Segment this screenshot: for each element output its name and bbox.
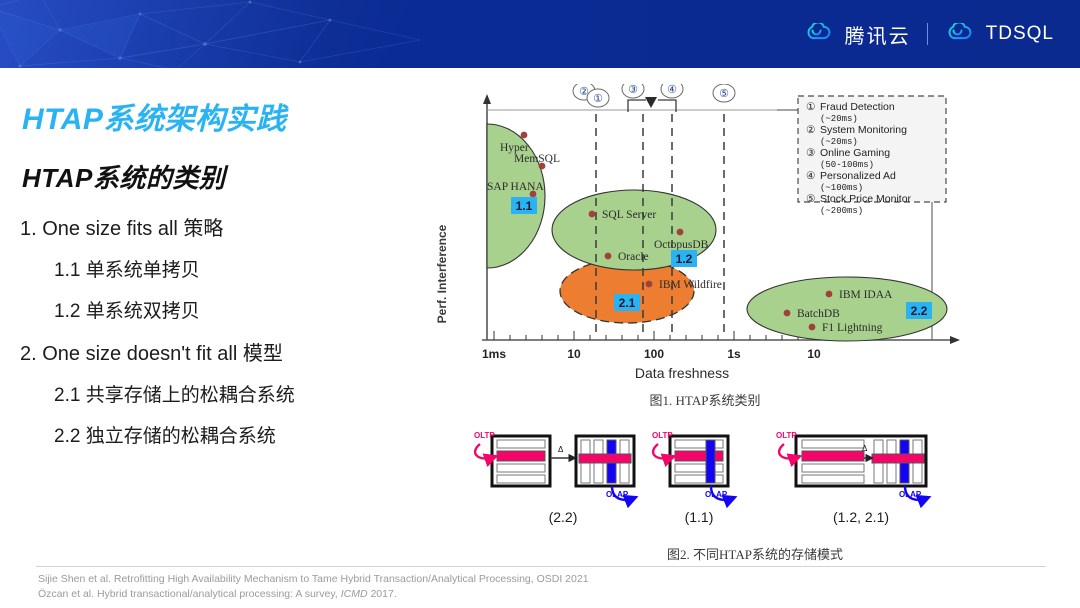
data-label-sap-hana: SAP HANA xyxy=(487,181,544,193)
oltp-label-3: OLTP xyxy=(776,431,797,440)
citation-2-venue: ICMD xyxy=(341,588,368,600)
olap-label-3: OLAP xyxy=(899,490,922,499)
x-tick-label-0: 1ms xyxy=(482,347,506,361)
scenario-arrow xyxy=(645,97,657,108)
legend-item-3-num: ③ xyxy=(806,147,816,159)
page-title: HTAP系统架构实践 xyxy=(22,94,286,138)
brand-name-cn: 腾讯云 xyxy=(845,20,911,49)
cloud-logo-icon xyxy=(803,23,833,45)
header-mesh-decoration xyxy=(0,0,460,68)
badge-2-2: 2.2 xyxy=(911,304,928,318)
legend-item-2-latency: (~20ms) xyxy=(820,137,858,147)
y-axis-label: Perf. Interference xyxy=(435,224,449,323)
figure-2-diagrams: Δ OLTP OLAP (2.2) OLTP OLAP xyxy=(466,424,966,534)
brand-name-en: TDSQL xyxy=(986,23,1054,45)
x-axis-ticks xyxy=(494,331,814,340)
list-item: 2.1 共享存储上的松耦合系统 xyxy=(20,380,450,407)
legend-item-1-latency: (~20ms) xyxy=(820,114,858,124)
x-tick-label-1: 10 xyxy=(567,347,581,361)
scenario-marker-5: ⑤ xyxy=(719,88,729,100)
scenario-marker-1: ① xyxy=(593,93,603,105)
list-item: 1. One size fits all 策略 xyxy=(20,212,450,241)
legend-item-4-latency: (~100ms) xyxy=(820,183,863,193)
citation-2-prefix: Özcan et al. Hybrid transactional/analyt… xyxy=(38,588,341,600)
data-label-f1-lightning: F1 Lightning xyxy=(822,322,883,334)
figure-1-caption: 图1. HTAP系统类别 xyxy=(470,390,940,409)
legend-item-3-latency: (50-100ms) xyxy=(820,160,874,170)
citation-2-suffix: 2017. xyxy=(368,588,397,600)
y-axis-arrow xyxy=(483,94,491,104)
list-item: 2. One size doesn't fit all 模型 xyxy=(20,337,450,366)
badge-1-1: 1.1 xyxy=(516,199,533,213)
slide-root: 腾讯云 TDSQL HTAP系统架构实践 HTAP系统的类别 1. One si… xyxy=(0,0,1080,608)
list-item: 2.2 独立存储的松耦合系统 xyxy=(20,421,450,448)
x-axis-label: Data freshness xyxy=(635,365,729,381)
legend-item-1-name: Fraud Detection xyxy=(820,101,895,113)
scenario-marker-4: ④ xyxy=(667,84,677,96)
legend-item-5-num: ⑤ xyxy=(806,193,816,205)
slide-header: 腾讯云 TDSQL xyxy=(0,0,1080,68)
chart-legend: ① Fraud Detection (~20ms) ② System Monit… xyxy=(777,96,946,216)
diagram-caption-3: (1.2, 2.1) xyxy=(833,509,889,525)
data-label-octopusdb: OctopusDB xyxy=(654,239,709,251)
cloud-logo-icon-tdsql xyxy=(944,23,974,45)
list-item: 1.2 单系统双拷贝 xyxy=(20,296,450,323)
page-subtitle: HTAP系统的类别 xyxy=(22,158,225,195)
legend-item-4-num: ④ xyxy=(806,170,816,182)
legend-item-5-name: Stock Price Monitor xyxy=(820,193,912,205)
brand-divider xyxy=(927,23,928,45)
data-label-sql-server: SQL Server xyxy=(602,209,656,221)
x-axis-arrow xyxy=(950,336,960,344)
olap-label-2: OLAP xyxy=(705,490,728,499)
data-label-ibm-idaa: IBM IDAA xyxy=(839,289,893,301)
list-item: 1.1 单系统单拷贝 xyxy=(20,255,450,282)
legend-item-4-name: Personalized Ad xyxy=(820,170,896,182)
diagram-caption-1: (2.2) xyxy=(549,509,578,525)
bullet-list: 1. One size fits all 策略 1.1 单系统单拷贝 1.2 单… xyxy=(20,212,450,462)
legend-item-5-latency: (~200ms) xyxy=(820,206,863,216)
delta-label-2: Δ xyxy=(862,444,868,453)
legend-item-1-num: ① xyxy=(806,101,816,113)
data-label-memsql: MemSQL xyxy=(514,153,560,165)
figure-2-caption: 图2. 不同HTAP系统的存储模式 xyxy=(520,544,990,563)
badge-1-2: 1.2 xyxy=(676,252,693,266)
oltp-label-2: OLTP xyxy=(652,431,673,440)
scenario-marker-3: ③ xyxy=(628,84,638,96)
legend-item-2-name: System Monitoring xyxy=(820,124,907,136)
footer-citations: Sijie Shen et al. Retrofitting High Avai… xyxy=(38,572,1048,602)
legend-item-2-num: ② xyxy=(806,124,816,136)
legend-item-3-name: Online Gaming xyxy=(820,147,890,159)
figure-1-chart: Perf. Interference xyxy=(432,84,962,384)
storage-diagram-2-2: Δ OLTP OLAP (2.2) xyxy=(474,431,634,525)
citation-line-1: Sijie Shen et al. Retrofitting High Avai… xyxy=(38,572,1048,587)
delta-label-1: Δ xyxy=(558,445,564,454)
scenario-markers: ② ① ③ ④ ⑤ xyxy=(573,84,735,107)
badge-2-1: 2.1 xyxy=(619,296,636,310)
x-tick-label-2: 100 xyxy=(644,347,664,361)
footer-divider xyxy=(36,566,1046,567)
brand-lockup: 腾讯云 TDSQL xyxy=(803,0,1054,68)
citation-line-2: Özcan et al. Hybrid transactional/analyt… xyxy=(38,587,1048,602)
data-label-ibm-wildfire: IBM Wildfire xyxy=(659,279,722,291)
x-tick-label-4: 10 xyxy=(807,347,821,361)
data-label-batchdb: BatchDB xyxy=(797,308,840,320)
diagram-caption-2: (1.1) xyxy=(685,509,714,525)
storage-diagram-1-1: OLTP OLAP (1.1) xyxy=(652,431,733,525)
x-tick-label-3: 1s xyxy=(727,347,741,361)
storage-diagram-1-2-2-1: Δ OLTP OLAP (1.2, 2.1) xyxy=(776,431,927,525)
olap-label-1: OLAP xyxy=(606,490,629,499)
data-label-oracle: Oracle xyxy=(618,251,649,263)
oltp-label-1: OLTP xyxy=(474,431,495,440)
